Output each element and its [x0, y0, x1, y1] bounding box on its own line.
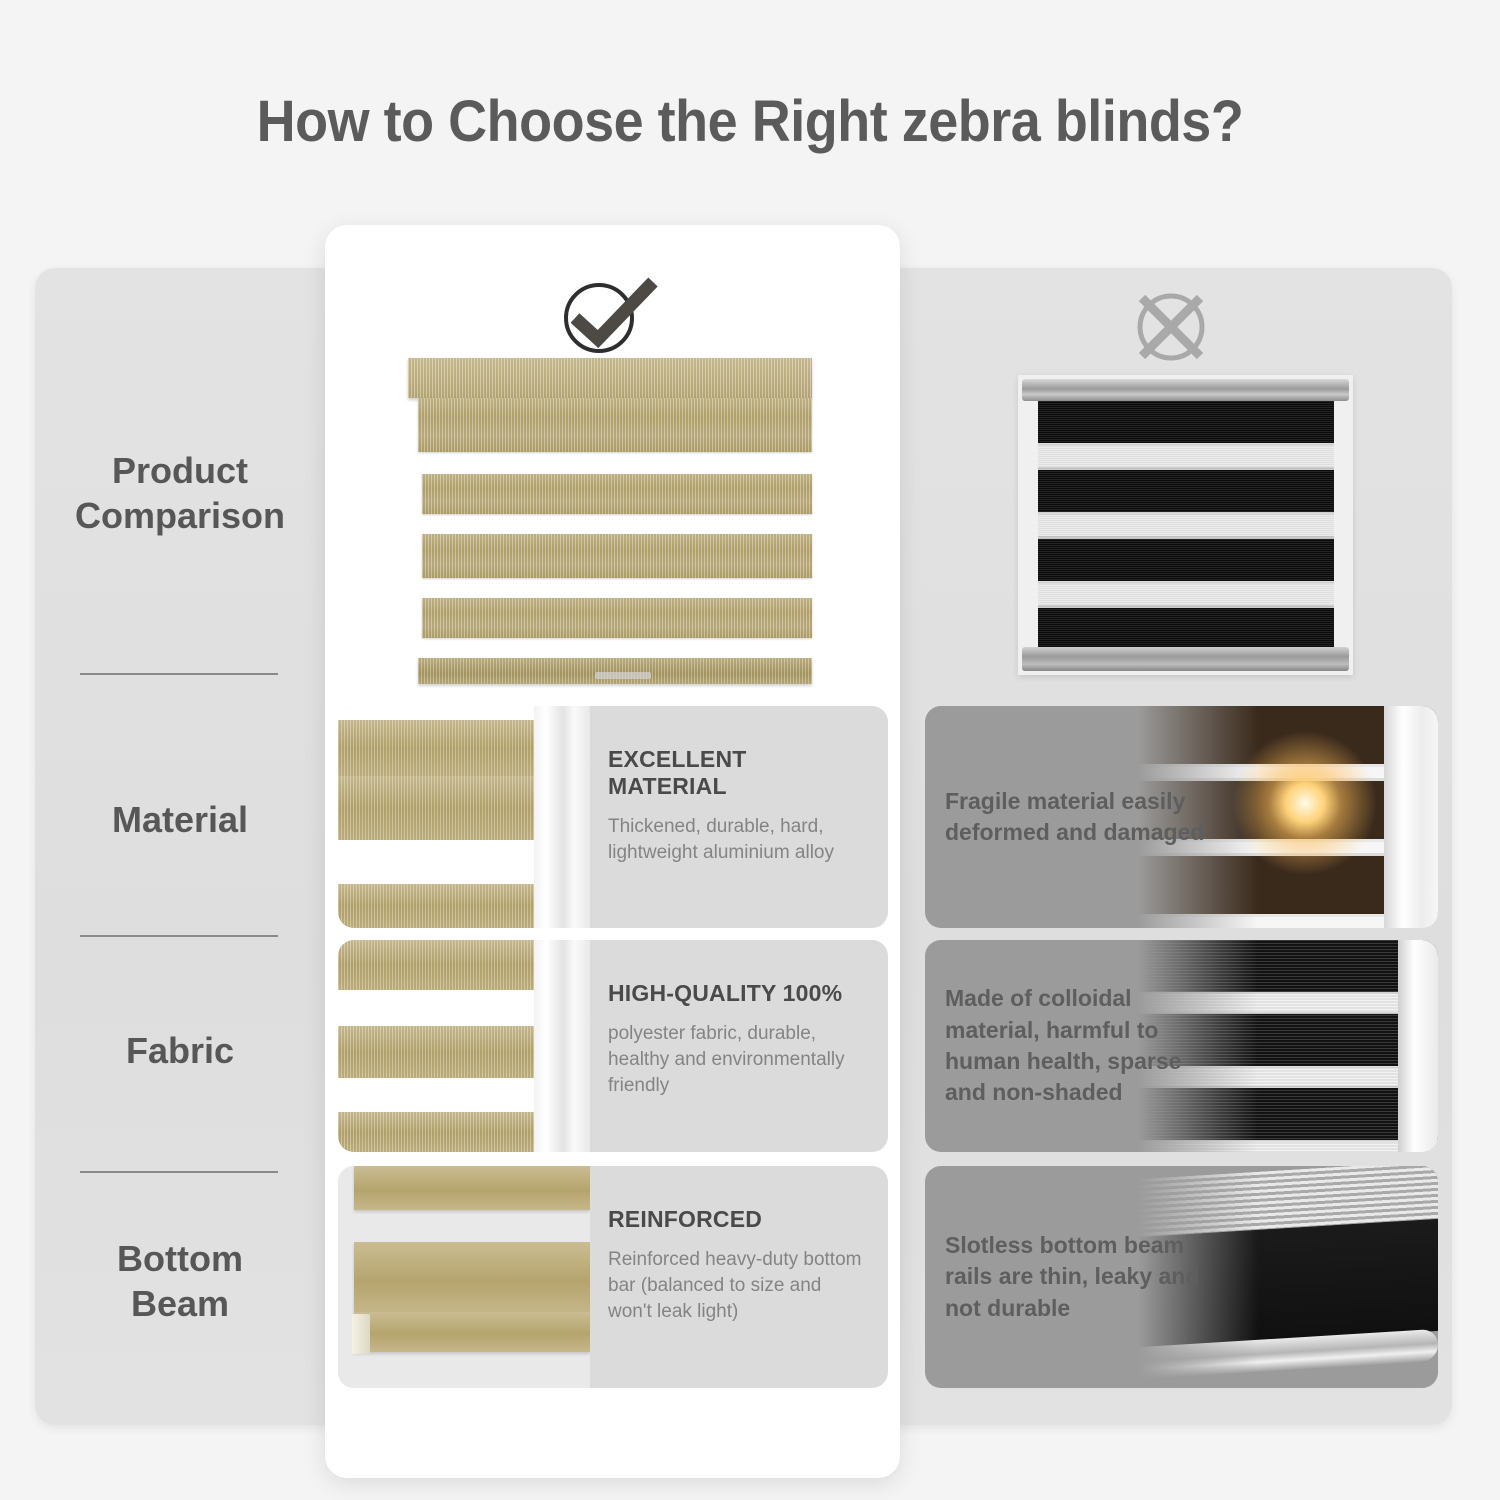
blind-valance	[408, 358, 812, 398]
blind-fabric	[1038, 401, 1334, 647]
row-label-line-1: Bottom	[117, 1238, 243, 1279]
row-label-line-2: Comparison	[75, 495, 285, 536]
blind-slat	[422, 474, 812, 514]
tan-blind-window-frame-photo	[338, 706, 590, 928]
bad-feature-text: Fragile material easily deformed and dam…	[945, 706, 1225, 928]
row-divider-3	[80, 1171, 278, 1173]
bad-feature-bottom-beam: Slotless bottom beam rails are thin, lea…	[925, 1166, 1438, 1388]
good-hero-blind	[408, 358, 812, 698]
blind-slat	[418, 398, 812, 452]
row-label-column: Product Comparison Material Fabric Botto…	[35, 268, 325, 1425]
row-label-line-1: Product	[112, 450, 248, 491]
feature-body: polyester fabric, durable, healthy and e…	[608, 1021, 864, 1100]
feature-body: Reinforced heavy-duty bottom bar (balanc…	[608, 1247, 864, 1326]
comparison-infographic: How to Choose the Right zebra blinds? Pr…	[0, 0, 1500, 1500]
feature-title: HIGH-QUALITY 100%	[608, 980, 864, 1007]
row-label-product-comparison: Product Comparison	[35, 448, 325, 538]
good-feature-material: EXCELLENT MATERIAL Thickened, durable, h…	[338, 706, 888, 928]
row-label-line-2: Beam	[131, 1283, 229, 1324]
good-feature-bottom-beam: REINFORCED Reinforced heavy-duty bottom …	[338, 1166, 888, 1388]
feature-title: REINFORCED	[608, 1206, 864, 1233]
blind-headrail	[1022, 379, 1349, 401]
row-label-bottom-beam: Bottom Beam	[35, 1236, 325, 1326]
good-feature-text: REINFORCED Reinforced heavy-duty bottom …	[590, 1166, 888, 1388]
page-title: How to Choose the Right zebra blinds?	[53, 88, 1448, 155]
blind-slat	[422, 534, 812, 578]
row-label-material: Material	[35, 797, 325, 842]
blind-bottom-rail	[418, 658, 812, 684]
blind-bottom-rail	[1022, 647, 1349, 671]
feature-title: EXCELLENT MATERIAL	[608, 746, 864, 800]
bad-feature-material: Fragile material easily deformed and dam…	[925, 706, 1438, 928]
good-feature-text: EXCELLENT MATERIAL Thickened, durable, h…	[590, 706, 888, 928]
row-label-fabric: Fabric	[35, 1028, 325, 1073]
check-circle-icon	[553, 270, 663, 360]
good-feature-text: HIGH-QUALITY 100% polyester fabric, dura…	[590, 940, 888, 1152]
x-circle-icon	[1118, 285, 1224, 369]
blind-slat	[422, 598, 812, 638]
tan-blind-bottom-beam-photo	[338, 1166, 590, 1388]
feature-body: Thickened, durable, hard, lightweight al…	[608, 814, 864, 866]
bad-hero-blind	[1018, 375, 1353, 675]
bad-feature-text: Made of colloidal material, harmful to h…	[945, 940, 1225, 1152]
row-divider-2	[80, 935, 278, 937]
row-divider-1	[80, 673, 278, 675]
tan-blind-fabric-photo	[338, 940, 590, 1152]
bad-feature-text: Slotless bottom beam rails are thin, lea…	[945, 1166, 1225, 1388]
good-feature-fabric: HIGH-QUALITY 100% polyester fabric, dura…	[338, 940, 888, 1152]
bad-feature-fabric: Made of colloidal material, harmful to h…	[925, 940, 1438, 1152]
